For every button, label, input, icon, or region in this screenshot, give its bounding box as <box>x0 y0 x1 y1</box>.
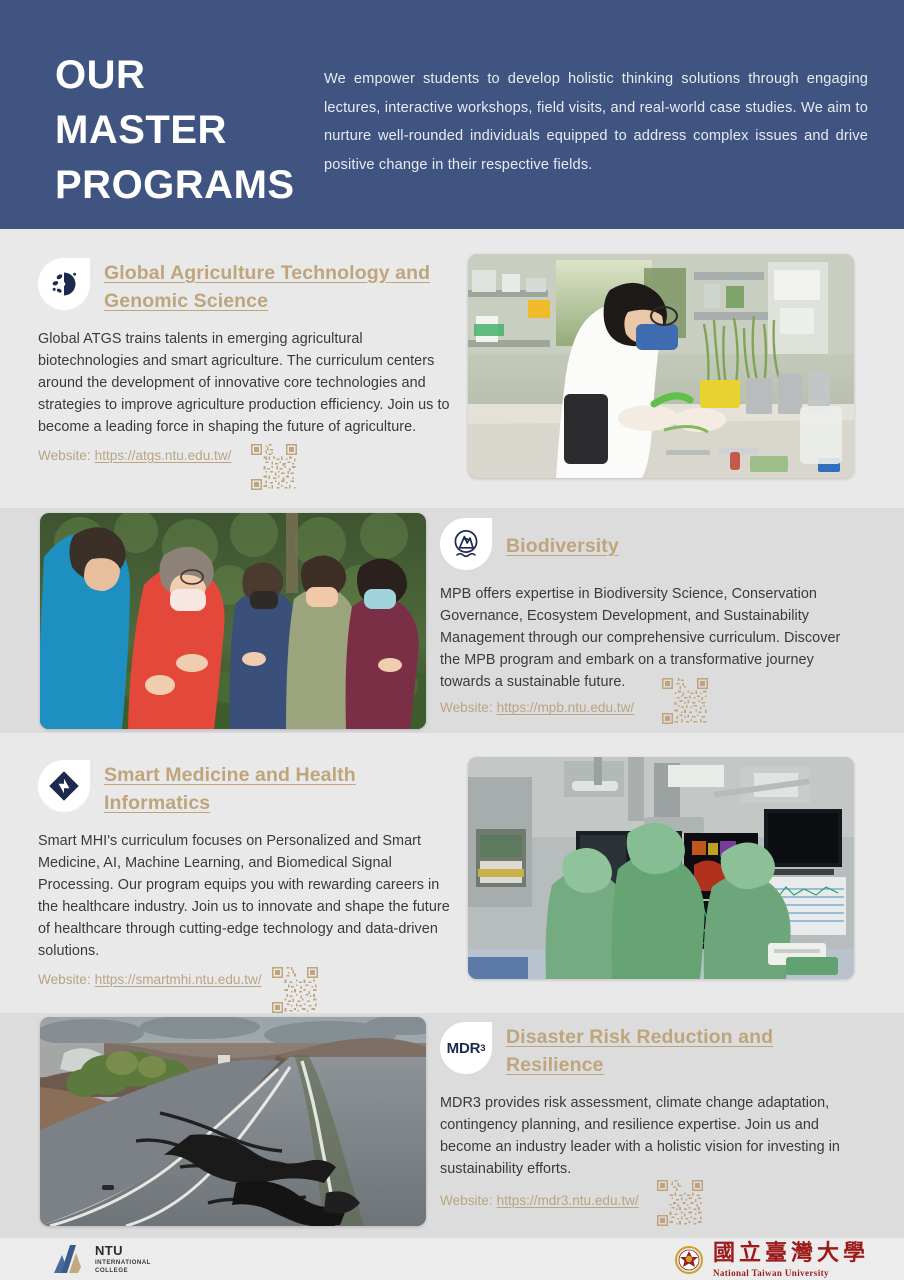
website-row: Website: https://mdr3.ntu.edu.tw/ <box>440 1193 864 1226</box>
ntu-ic-line3: COLLEGE <box>95 1268 151 1274</box>
program-header: Biodiversity <box>440 518 864 570</box>
smart-medicine-diamond-icon <box>38 760 90 812</box>
program-photo-atgs <box>468 254 854 478</box>
program-card-smartmhi: Smart Medicine and Health Informatics Sm… <box>38 760 466 1013</box>
program-title[interactable]: Biodiversity <box>506 518 619 561</box>
program-photo-mdr3 <box>40 1017 426 1226</box>
website-label: Website: <box>38 972 91 987</box>
website-link[interactable]: https://mdr3.ntu.edu.tw/ <box>497 1193 639 1208</box>
website-label: Website: <box>440 700 493 715</box>
mdr3-superscript: 3 <box>480 1043 485 1054</box>
ntu-english-name: National Taiwan University <box>713 1268 869 1278</box>
website-label: Website: <box>440 1193 493 1208</box>
program-header: MDR3 Disaster Risk Reduction and Resilie… <box>440 1022 864 1079</box>
qr-code-mdr3[interactable] <box>657 1180 703 1226</box>
program-card-biodiversity: Biodiversity MPB offers expertise in Bio… <box>440 518 864 724</box>
ntu-ic-mark <box>52 1245 86 1273</box>
website-row: Website: https://atgs.ntu.edu.tw/ <box>38 448 458 490</box>
website-row: Website: https://smartmhi.ntu.edu.tw/ <box>38 972 466 1013</box>
qr-code-atgs[interactable] <box>251 444 297 490</box>
program-photo-smartmhi: 12 <box>468 757 854 979</box>
program-card-atgs: Global Agriculture Technology and Genomi… <box>38 258 458 490</box>
program-card-mdr3: MDR3 Disaster Risk Reduction and Resilie… <box>440 1022 864 1226</box>
ntu-international-college-logo: NTU INTERNATIONAL COLLEGE <box>52 1244 151 1274</box>
program-description: Global ATGS trains talents in emerging a… <box>38 329 456 438</box>
genome-seed-icon <box>38 258 90 310</box>
program-title[interactable]: Disaster Risk Reduction and Resilience <box>506 1022 864 1079</box>
mdr3-text-icon: MDR3 <box>440 1022 492 1074</box>
qr-code-mpb[interactable] <box>662 678 708 724</box>
ntu-ic-wordmark: NTU INTERNATIONAL COLLEGE <box>95 1244 151 1274</box>
ntu-chinese-name: 國立臺灣大學 <box>713 1242 869 1264</box>
program-photo-biodiversity <box>40 513 426 729</box>
biodiversity-globe-icon <box>440 518 492 570</box>
program-header: Smart Medicine and Health Informatics <box>38 760 466 817</box>
program-title[interactable]: Global Agriculture Technology and Genomi… <box>104 258 458 315</box>
website-link[interactable]: https://mpb.ntu.edu.tw/ <box>497 700 635 715</box>
program-description: MPB offers expertise in Biodiversity Sci… <box>440 584 858 693</box>
ntu-seal-icon <box>675 1246 703 1274</box>
website-label: Website: <box>38 448 91 463</box>
poster-page: OUR MASTER PROGRAMS We empower students … <box>0 0 904 1280</box>
website-link[interactable]: https://smartmhi.ntu.edu.tw/ <box>95 972 262 987</box>
ntu-ic-line2: INTERNATIONAL <box>95 1260 151 1266</box>
program-header: Global Agriculture Technology and Genomi… <box>38 258 458 315</box>
header-banner: OUR MASTER PROGRAMS We empower students … <box>0 0 904 229</box>
header-description: We empower students to develop holistic … <box>324 65 868 180</box>
qr-code-smartmhi[interactable] <box>272 967 318 1013</box>
page-title: OUR MASTER PROGRAMS <box>55 48 295 214</box>
program-description: MDR3 provides risk assessment, climate c… <box>440 1093 860 1181</box>
ntu-wordmark: 國立臺灣大學 National Taiwan University <box>713 1242 869 1278</box>
ntu-university-logo: 國立臺灣大學 National Taiwan University <box>675 1242 869 1278</box>
website-link[interactable]: https://atgs.ntu.edu.tw/ <box>95 448 232 463</box>
mdr3-label: MDR <box>447 1040 481 1057</box>
ntu-ic-line1: NTU <box>95 1244 151 1257</box>
program-description: Smart MHI's curriculum focuses on Person… <box>38 831 463 962</box>
program-title[interactable]: Smart Medicine and Health Informatics <box>104 760 466 817</box>
website-row: Website: https://mpb.ntu.edu.tw/ <box>440 700 864 724</box>
